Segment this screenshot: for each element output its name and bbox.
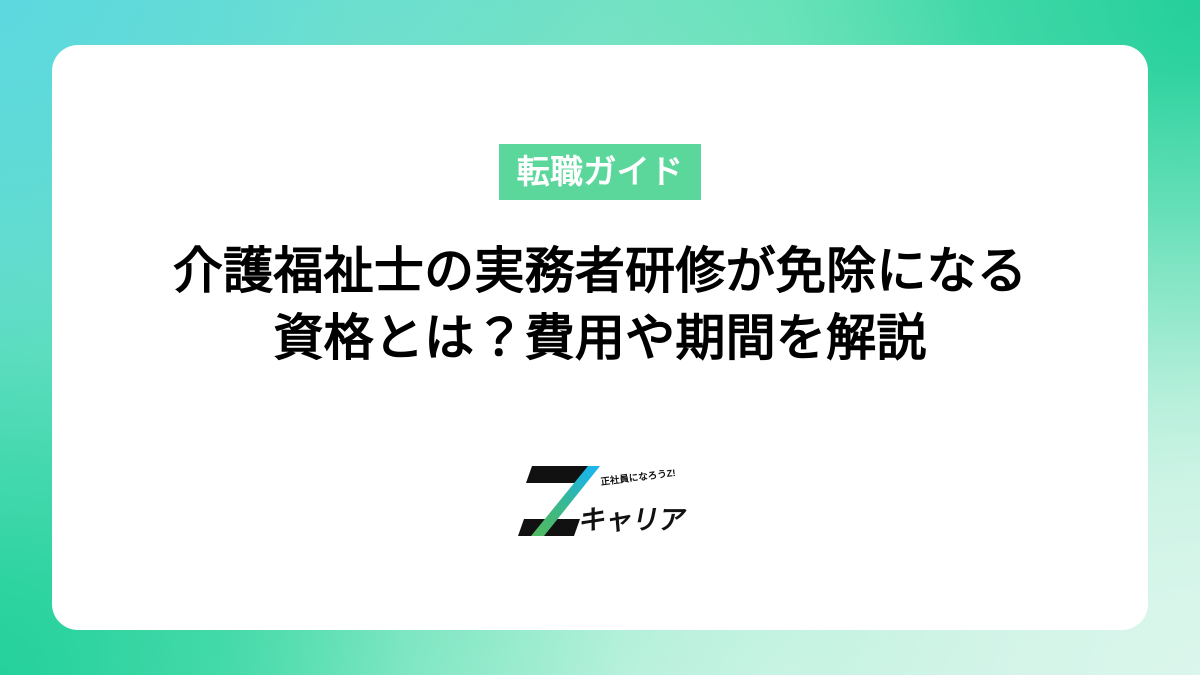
content-card: 転職ガイド 介護福祉士の実務者研修が免除になる 資格とは？費用や期間を解説 — [52, 45, 1148, 630]
logo-tagline: 正社員になろうZ! — [600, 466, 676, 487]
page-title-line-2: 資格とは？費用や期間を解説 — [173, 305, 1027, 372]
page-title-line-1: 介護福祉士の実務者研修が免除になる — [173, 238, 1027, 305]
logo-wordmark: キャリア — [577, 504, 689, 535]
page-canvas: 転職ガイド 介護福祉士の実務者研修が免除になる 資格とは？費用や期間を解説 — [0, 0, 1200, 675]
page-title: 介護福祉士の実務者研修が免除になる 資格とは？費用や期間を解説 — [173, 238, 1027, 372]
brand-logo: 正社員になろうZ! キャリア — [500, 456, 700, 546]
category-badge: 転職ガイド — [499, 144, 702, 200]
zcareer-logo-icon: 正社員になろうZ! キャリア — [500, 456, 700, 546]
